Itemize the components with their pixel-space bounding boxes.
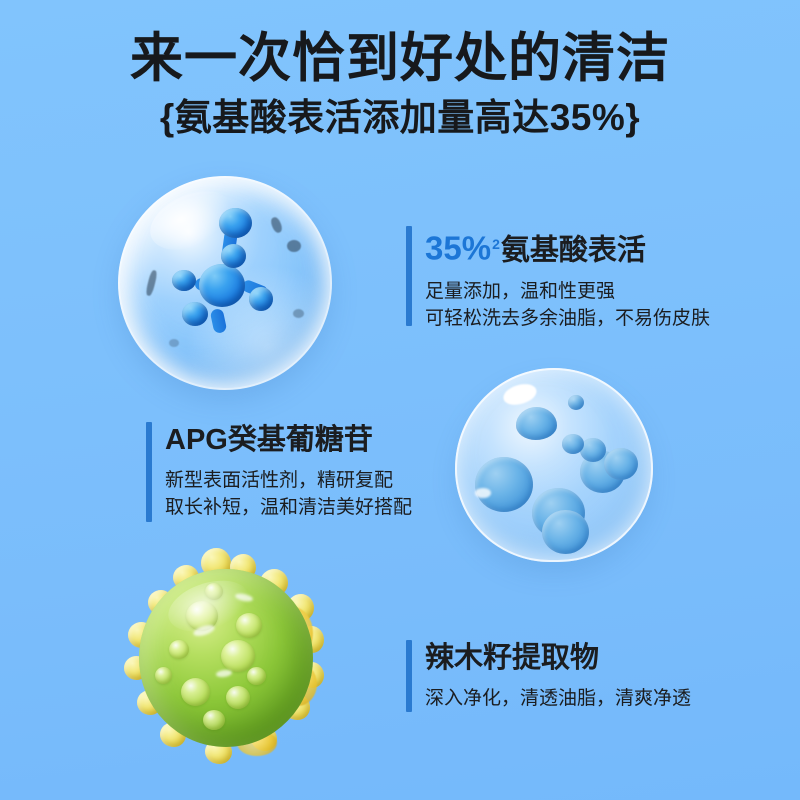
accent-bar	[406, 226, 412, 326]
molecule-atom	[249, 287, 273, 311]
molecule-atom	[219, 208, 252, 238]
bubble-droplet	[568, 395, 584, 410]
feature-description-line: 深入净化，清透油脂，清爽净透	[425, 685, 691, 712]
bubble-sphere-image	[455, 368, 653, 562]
seed-droplet	[169, 640, 189, 659]
molecule-bond	[210, 308, 228, 334]
percent-superscript: 2	[492, 236, 500, 252]
feature-description: 足量添加，温和性更强 可轻松洗去多余油脂，不易伤皮肤	[425, 278, 710, 332]
bubble-droplet	[562, 434, 584, 454]
bubble-droplet	[516, 407, 557, 440]
seed-droplet	[226, 686, 250, 709]
glass-speck-icon	[287, 240, 301, 252]
feature-block-amino-acid: 35%2氨基酸表活 足量添加，温和性更强 可轻松洗去多余油脂，不易伤皮肤	[406, 226, 710, 326]
poster-header: 来一次恰到好处的清洁 {氨基酸表活添加量高达35%}	[0, 28, 800, 142]
feature-description-line: 足量添加，温和性更强	[425, 278, 710, 305]
molecule-atom	[172, 270, 196, 291]
feature-body: 35%2氨基酸表活 足量添加，温和性更强 可轻松洗去多余油脂，不易伤皮肤	[425, 226, 710, 326]
percent-value: 35%	[425, 230, 491, 267]
feature-title: APG癸基葡糖苷	[165, 422, 412, 459]
promo-poster: 来一次恰到好处的清洁 {氨基酸表活添加量高达35%}	[0, 0, 800, 800]
molecule-atom	[221, 244, 246, 268]
seed-sheen	[192, 623, 216, 638]
seed-droplet	[236, 613, 262, 638]
bubble-highlight	[500, 381, 538, 409]
glass-speck-icon	[269, 216, 283, 234]
accent-bar	[146, 422, 152, 522]
molecule-atom	[199, 264, 245, 307]
feature-description: 新型表面活性剂，精研复配 取长补短，温和清洁美好搭配	[165, 467, 412, 521]
seed-sheen	[215, 669, 232, 678]
accent-bar	[406, 640, 412, 712]
seed-droplet	[205, 583, 223, 600]
feature-title: 辣木籽提取物	[425, 640, 691, 677]
glass-sphere-body	[118, 176, 332, 390]
glass-speck-icon	[293, 309, 304, 318]
bubble-body	[455, 368, 653, 562]
bubble-highlight	[475, 488, 491, 498]
molecule-atom	[182, 302, 208, 326]
molecule-sphere-image	[118, 176, 332, 390]
glass-speck-icon	[169, 339, 179, 347]
feature-body: 辣木籽提取物 深入净化，清透油脂，清爽净透	[425, 640, 691, 712]
glass-speck-icon	[145, 270, 158, 297]
feature-title-text: 氨基酸表活	[501, 235, 646, 267]
seed-droplet	[181, 678, 210, 706]
bubble-droplet	[604, 448, 638, 480]
feature-description: 深入净化，清透油脂，清爽净透	[425, 685, 691, 712]
moringa-seed-image	[120, 552, 332, 764]
page-subtitle: {氨基酸表活添加量高达35%}	[0, 94, 800, 142]
feature-description-line: 可轻松洗去多余油脂，不易伤皮肤	[425, 305, 710, 332]
feature-body: APG癸基葡糖苷 新型表面活性剂，精研复配 取长补短，温和清洁美好搭配	[165, 422, 412, 522]
seed-droplet	[247, 667, 266, 685]
seed-core	[139, 569, 313, 747]
seed-droplet	[186, 601, 218, 631]
seed-sheen	[234, 592, 253, 603]
feature-description-line: 新型表面活性剂，精研复配	[165, 467, 412, 494]
feature-title: 35%2氨基酸表活	[425, 226, 710, 270]
feature-block-apg: APG癸基葡糖苷 新型表面活性剂，精研复配 取长补短，温和清洁美好搭配	[146, 422, 412, 522]
bubble-droplet	[542, 510, 589, 554]
bubble-droplet	[475, 457, 533, 512]
feature-block-moringa: 辣木籽提取物 深入净化，清透油脂，清爽净透	[406, 640, 691, 712]
seed-droplet	[221, 640, 255, 672]
seed-droplet	[155, 667, 172, 684]
feature-description-line: 取长补短，温和清洁美好搭配	[165, 494, 412, 521]
page-title: 来一次恰到好处的清洁	[0, 28, 800, 90]
seed-droplet	[203, 710, 225, 730]
